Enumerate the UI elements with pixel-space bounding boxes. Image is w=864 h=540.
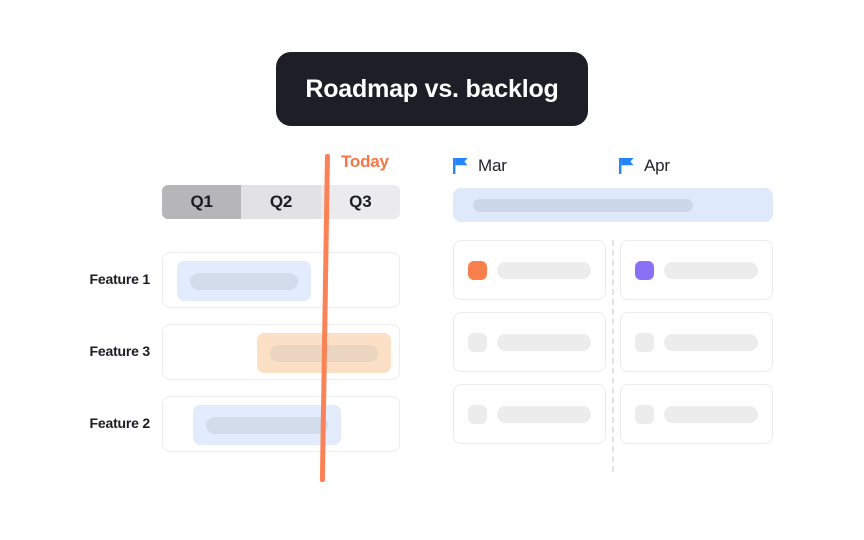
card-chip-gray — [468, 405, 487, 424]
gantt-bar-inner — [190, 273, 298, 290]
card-chip-gray — [468, 333, 487, 352]
backlog-card[interactable] — [453, 384, 606, 444]
backlog-timeline-bar[interactable] — [453, 188, 773, 222]
milestone-label: Apr — [644, 156, 670, 176]
card-placeholder-line — [497, 406, 591, 423]
backlog-card[interactable] — [620, 240, 773, 300]
quarter-segment-q3[interactable]: Q3 — [321, 185, 400, 219]
feature-label: Feature 1 — [58, 271, 150, 287]
card-placeholder-line — [664, 406, 758, 423]
backlog-card[interactable] — [620, 384, 773, 444]
page-title: Roadmap vs. backlog — [305, 75, 558, 104]
roadmap-row[interactable]: Feature 1 — [162, 252, 400, 308]
milestone-mar[interactable]: Mar — [453, 156, 507, 176]
gantt-bar-inner — [206, 417, 328, 434]
page-title-pill: Roadmap vs. backlog — [276, 52, 588, 126]
milestone-apr[interactable]: Apr — [619, 156, 670, 176]
backlog-panel: Mar Apr — [453, 148, 773, 472]
feature-label: Feature 3 — [58, 343, 150, 359]
feature-label: Feature 2 — [58, 415, 150, 431]
today-label: Today — [341, 152, 389, 172]
card-placeholder-line — [497, 262, 591, 279]
backlog-timeline-progress — [473, 199, 693, 212]
backlog-card[interactable] — [620, 312, 773, 372]
card-chip-purple — [635, 261, 654, 280]
roadmap-panel: Q1 Q2 Q3 Feature 1 Feature 3 Feature 2 — [162, 148, 402, 464]
card-placeholder-line — [664, 262, 758, 279]
milestone-label: Mar — [478, 156, 507, 176]
gantt-bar-feature-1[interactable] — [177, 261, 311, 301]
quarter-segment-q2[interactable]: Q2 — [241, 185, 320, 219]
card-chip-orange — [468, 261, 487, 280]
card-chip-gray — [635, 333, 654, 352]
quarter-strip: Q1 Q2 Q3 — [162, 185, 400, 219]
quarter-segment-q1[interactable]: Q1 — [162, 185, 241, 219]
backlog-card-grid — [453, 240, 773, 444]
flag-icon — [619, 158, 634, 174]
gantt-bar-feature-2[interactable] — [193, 405, 341, 445]
card-placeholder-line — [497, 334, 591, 351]
flag-icon — [453, 158, 468, 174]
roadmap-row[interactable]: Feature 2 — [162, 396, 400, 452]
card-placeholder-line — [664, 334, 758, 351]
backlog-card[interactable] — [453, 240, 606, 300]
backlog-card[interactable] — [453, 312, 606, 372]
card-chip-gray — [635, 405, 654, 424]
roadmap-row[interactable]: Feature 3 — [162, 324, 400, 380]
